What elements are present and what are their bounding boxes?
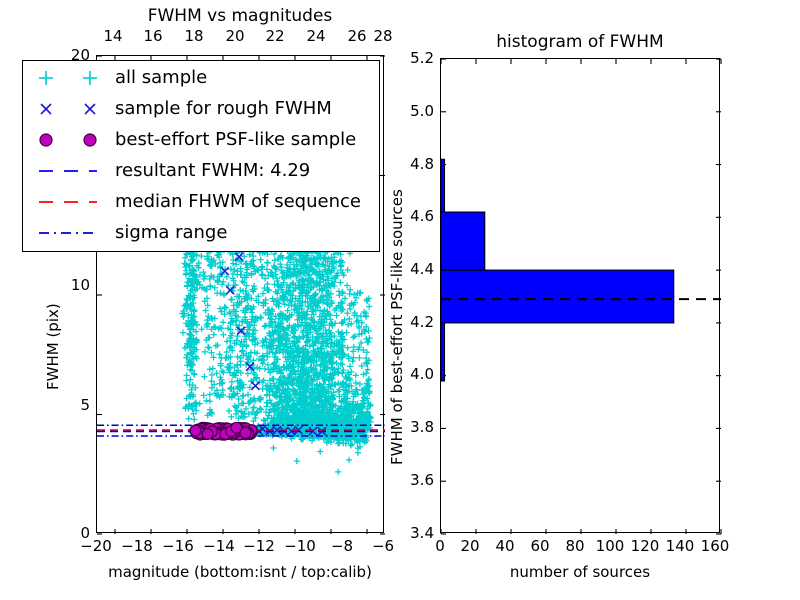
ticklabel: 0 [431, 537, 449, 555]
ticklabel: 24 [304, 27, 328, 45]
right-panel-title: histogram of FWHM [440, 32, 720, 52]
ticklabel: 100 [592, 537, 628, 555]
legend-item[interactable]: median FHWM of sequence [23, 187, 379, 217]
legend-item[interactable]: best-effort PSF-like sample [23, 125, 379, 155]
ticklabel: 5.0 [392, 102, 434, 120]
right-panel-xlabel: number of sources [455, 563, 705, 581]
ticklabel: 5.2 [392, 49, 434, 67]
figure-canvas: FWHM vs magnitudes 14 16 18 20 22 24 26 … [0, 0, 800, 600]
ticklabel: 14 [101, 27, 125, 45]
legend-item-label: resultant FWHM: 4.29 [115, 156, 310, 186]
ticklabel: 60 [526, 537, 554, 555]
ticklabel: 18 [182, 27, 206, 45]
ticklabel: −10 [283, 537, 317, 555]
ticklabel: 140 [662, 537, 698, 555]
ticklabel: −20 [79, 537, 113, 555]
legend: all sample sample for rough FWHM b [22, 60, 380, 252]
ticklabel: 16 [141, 27, 165, 45]
dashdot-line-blue-icon [29, 218, 107, 248]
ticklabel: −18 [120, 537, 154, 555]
left-panel-xlabel: magnitude (bottom:isnt / top:calib) [83, 563, 397, 581]
legend-item-label: best-effort PSF-like sample [115, 125, 356, 155]
ticklabel: 20 [456, 537, 484, 555]
ticklabel: −12 [242, 537, 276, 555]
legend-item[interactable]: all sample [23, 63, 379, 93]
ticklabel: 5 [64, 396, 90, 414]
legend-item[interactable]: sample for rough FWHM [23, 94, 379, 124]
left-panel-title: FWHM vs magnitudes [96, 6, 384, 26]
legend-item-label: sigma range [115, 218, 227, 248]
cross-marker-icon [29, 94, 107, 124]
plus-marker-icon [29, 63, 107, 93]
legend-item-label: sample for rough FWHM [115, 94, 332, 124]
ticklabel: 26 [345, 27, 369, 45]
dashed-line-red-icon [29, 187, 107, 217]
left-panel-ylabel: FWHM (pix) [44, 303, 62, 390]
dashed-line-blue-icon [29, 156, 107, 186]
ticklabel: 3.6 [392, 471, 434, 489]
ticklabel: −16 [161, 537, 195, 555]
ticklabel: 160 [697, 537, 733, 555]
ticklabel: 80 [561, 537, 589, 555]
ticklabel: −14 [202, 537, 236, 555]
ticklabel: 120 [627, 537, 663, 555]
ticklabel: −8 [328, 537, 356, 555]
right-axes-frame [440, 58, 720, 533]
legend-item[interactable]: sigma range [23, 218, 379, 248]
circle-marker-icon [29, 125, 107, 155]
right-panel-ylabel: FWHM of best-effort PSF-like sources [388, 189, 406, 465]
histogram-plot-data [441, 59, 721, 534]
ticklabel: 22 [263, 27, 287, 45]
ticklabel: 40 [491, 537, 519, 555]
legend-item-label: median FHWM of sequence [115, 187, 361, 217]
ticklabel: 28 [371, 27, 395, 45]
ticklabel: 3.4 [392, 524, 434, 542]
legend-item[interactable]: resultant FWHM: 4.29 [23, 156, 379, 186]
ticklabel: 4.8 [392, 155, 434, 173]
ticklabel: 20 [223, 27, 247, 45]
legend-item-label: all sample [115, 63, 207, 93]
ticklabel: 10 [64, 276, 90, 294]
